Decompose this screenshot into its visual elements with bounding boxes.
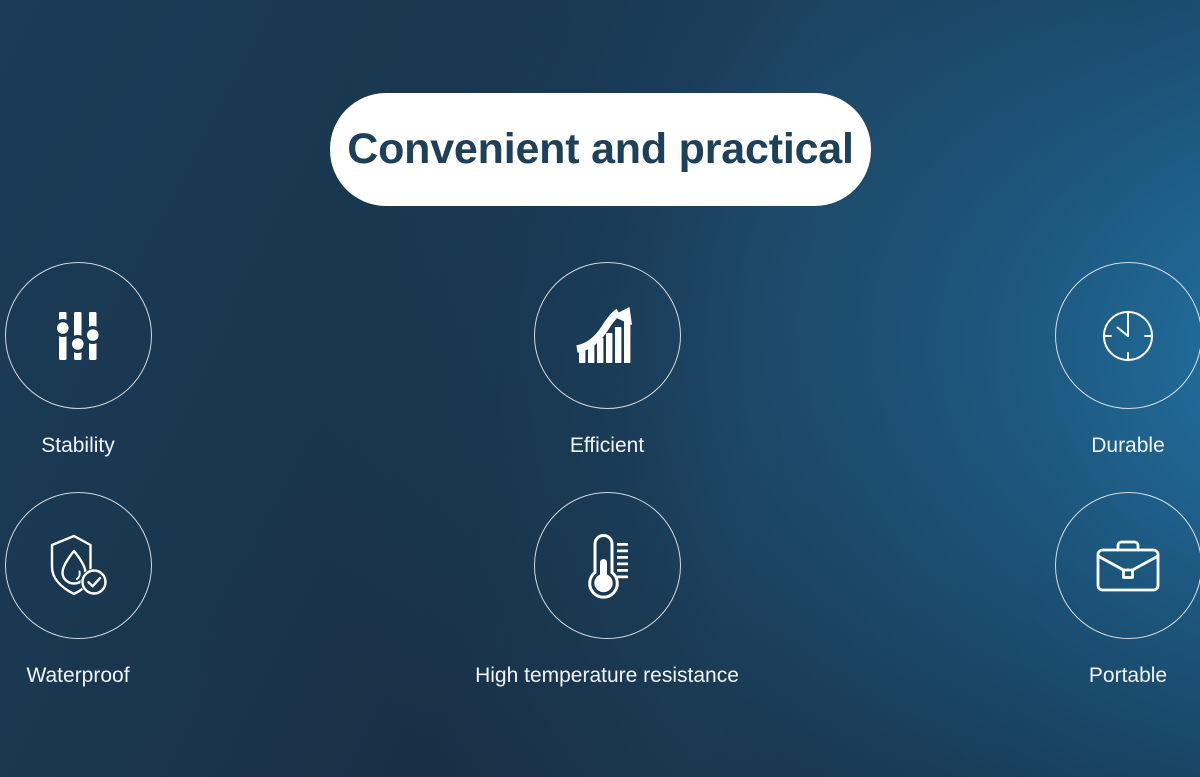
feature-label: Waterproof xyxy=(26,665,129,686)
feature-item-high-temperature-resistance[interactable]: High temperature resistance xyxy=(400,492,800,686)
page-title: Convenient and practical xyxy=(347,125,854,174)
feature-item-efficient[interactable]: Efficient xyxy=(400,262,800,456)
feature-row: Stability xyxy=(0,262,1200,456)
feature-item-stability[interactable]: Stability xyxy=(0,262,400,456)
slide-canvas: Convenient and practical xyxy=(0,0,1200,777)
shield-waterdrop-check-icon xyxy=(44,533,112,599)
icon-ring xyxy=(534,492,681,639)
feature-item-waterproof[interactable]: Waterproof xyxy=(0,492,400,686)
icon-ring xyxy=(1055,492,1200,639)
briefcase-icon xyxy=(1094,537,1162,595)
icon-ring xyxy=(5,492,152,639)
clock-icon xyxy=(1097,305,1159,367)
title-pill: Convenient and practical xyxy=(330,93,871,206)
feature-label: Stability xyxy=(41,435,115,456)
icon-ring xyxy=(534,262,681,409)
feature-grid: Stability xyxy=(0,262,1200,686)
feature-item-durable[interactable]: Durable xyxy=(800,262,1200,456)
feature-label: High temperature resistance xyxy=(475,665,739,686)
feature-label: Portable xyxy=(1089,665,1167,686)
icon-ring xyxy=(5,262,152,409)
growth-chart-arrow-icon xyxy=(575,305,639,367)
feature-label: Efficient xyxy=(570,435,644,456)
feature-label: Durable xyxy=(1091,435,1165,456)
feature-row: Waterproof xyxy=(0,492,1200,686)
feature-item-portable[interactable]: Portable xyxy=(800,492,1200,686)
icon-ring xyxy=(1055,262,1200,409)
sliders-icon xyxy=(48,306,108,366)
thermometer-icon xyxy=(579,532,635,600)
